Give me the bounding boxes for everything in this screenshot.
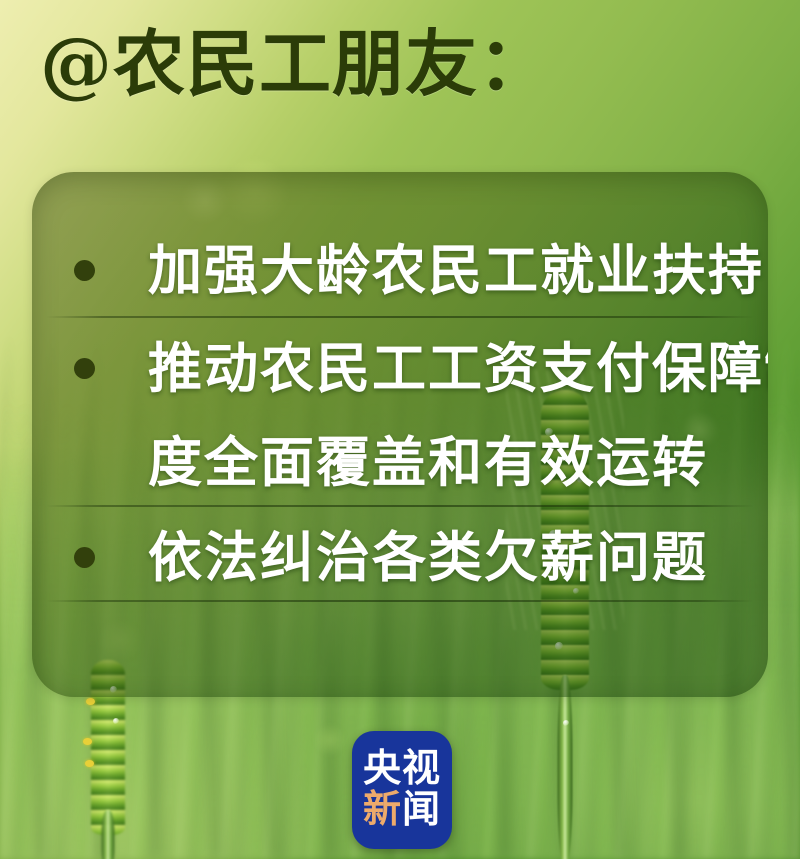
- cctv-news-logo[interactable]: 央视 新闻: [352, 731, 452, 849]
- bullet-marker-1: [74, 260, 95, 281]
- bullet-marker-3: [74, 547, 95, 568]
- wheat-stem-right: [558, 675, 573, 859]
- page-title: @农民工朋友：: [40, 28, 551, 100]
- dew-drop: [113, 718, 119, 724]
- wheat-stem-left: [102, 810, 115, 859]
- wheat-anther: [85, 760, 94, 767]
- bullet-marker-2: [74, 358, 95, 379]
- list-divider-2: [46, 505, 754, 507]
- list-item-2-line-1: 推动农民工工资支付保障制: [148, 342, 768, 396]
- dew-drop: [563, 720, 569, 726]
- list-divider-1: [46, 316, 754, 318]
- list-item-1-line-1: 加强大龄农民工就业扶持: [148, 244, 764, 298]
- wheat-anther: [83, 738, 92, 745]
- poster-graphic: @农民工朋友： 加强大龄农民工就业扶持 推动农民工工资支付保障制 度全面覆盖和有…: [0, 0, 800, 859]
- logo-char-xin: 新: [363, 789, 402, 831]
- wheat-anther: [86, 698, 95, 705]
- logo-text-line-1: 央视: [363, 750, 441, 790]
- logo-text-line-2: 新闻: [363, 791, 441, 831]
- list-divider-3: [46, 600, 754, 602]
- content-card: 加强大龄农民工就业扶持 推动农民工工资支付保障制 度全面覆盖和有效运转 依法纠治…: [32, 172, 768, 697]
- logo-char-wen: 闻: [402, 789, 441, 831]
- list-item-2-line-2: 度全面覆盖和有效运转: [148, 436, 708, 490]
- list-item-3-line-1: 依法纠治各类欠薪问题: [148, 531, 708, 585]
